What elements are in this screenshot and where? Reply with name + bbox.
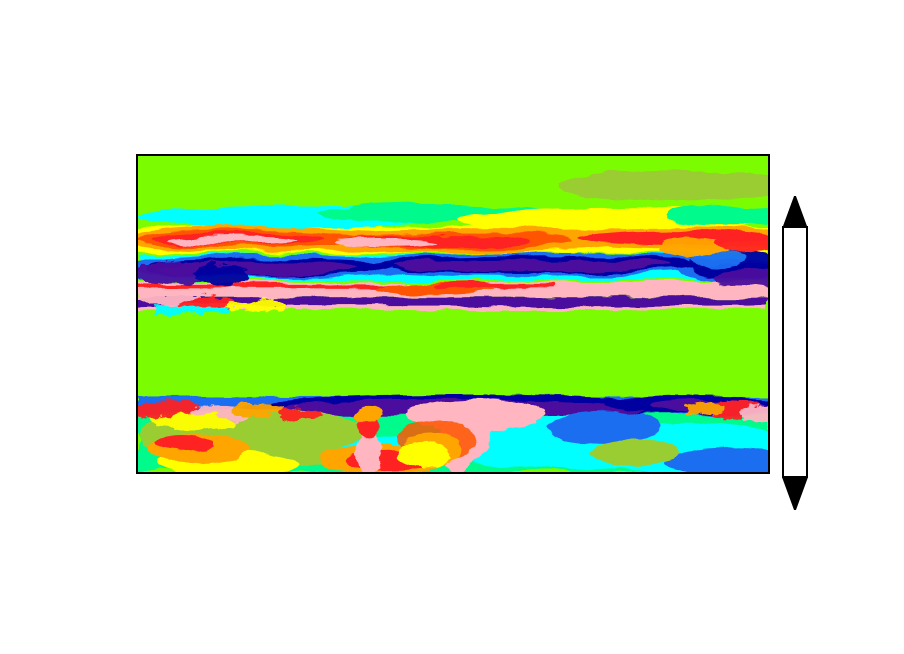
colorbar-over-cap [782, 196, 808, 226]
contour-plot-area [136, 154, 770, 474]
colorbar [780, 196, 900, 516]
colorbar-under-cap [782, 478, 808, 508]
temperature-deviation-field [138, 156, 768, 472]
colorbar-bands [782, 226, 808, 478]
